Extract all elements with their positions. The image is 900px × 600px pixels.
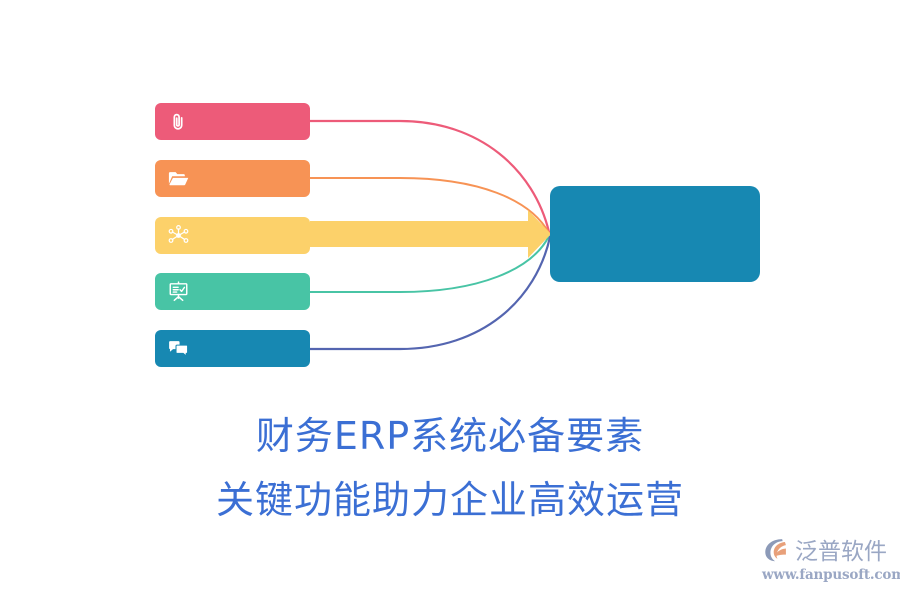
connector-arrow-2 (310, 210, 551, 258)
brand-watermark: 泛普软件 www.fanpusoft.com (762, 532, 894, 588)
connector-line-0 (310, 121, 549, 232)
brand-row: 泛普软件 (762, 532, 894, 566)
feature-bar-3[interactable] (155, 273, 310, 310)
headline-line-1: 财务ERP系统必备要素 (0, 404, 900, 468)
headline-block: 财务ERP系统必备要素 关键功能助力企业高效运营 (0, 404, 900, 532)
brand-name: 泛普软件 (795, 532, 887, 566)
brand-url: www.fanpusoft.com (762, 567, 894, 583)
paperclip-icon (166, 110, 190, 134)
poster-canvas: 财务ERP系统必备要素 关键功能助力企业高效运营 泛普软件 www.fanpus… (0, 0, 900, 600)
feature-bar-0[interactable] (155, 103, 310, 140)
folder-open-icon (166, 167, 190, 191)
presentation-board-icon (166, 280, 190, 304)
target-card[interactable] (550, 186, 760, 282)
feature-bar-1[interactable] (155, 160, 310, 197)
headline-line-2: 关键功能助力企业高效运营 (0, 468, 900, 532)
fanpu-logo-mark-icon (762, 534, 792, 564)
sitemap-network-icon (166, 224, 190, 248)
feature-bar-2[interactable] (155, 217, 310, 254)
chat-bubbles-icon (166, 337, 190, 361)
feature-bar-4[interactable] (155, 330, 310, 367)
